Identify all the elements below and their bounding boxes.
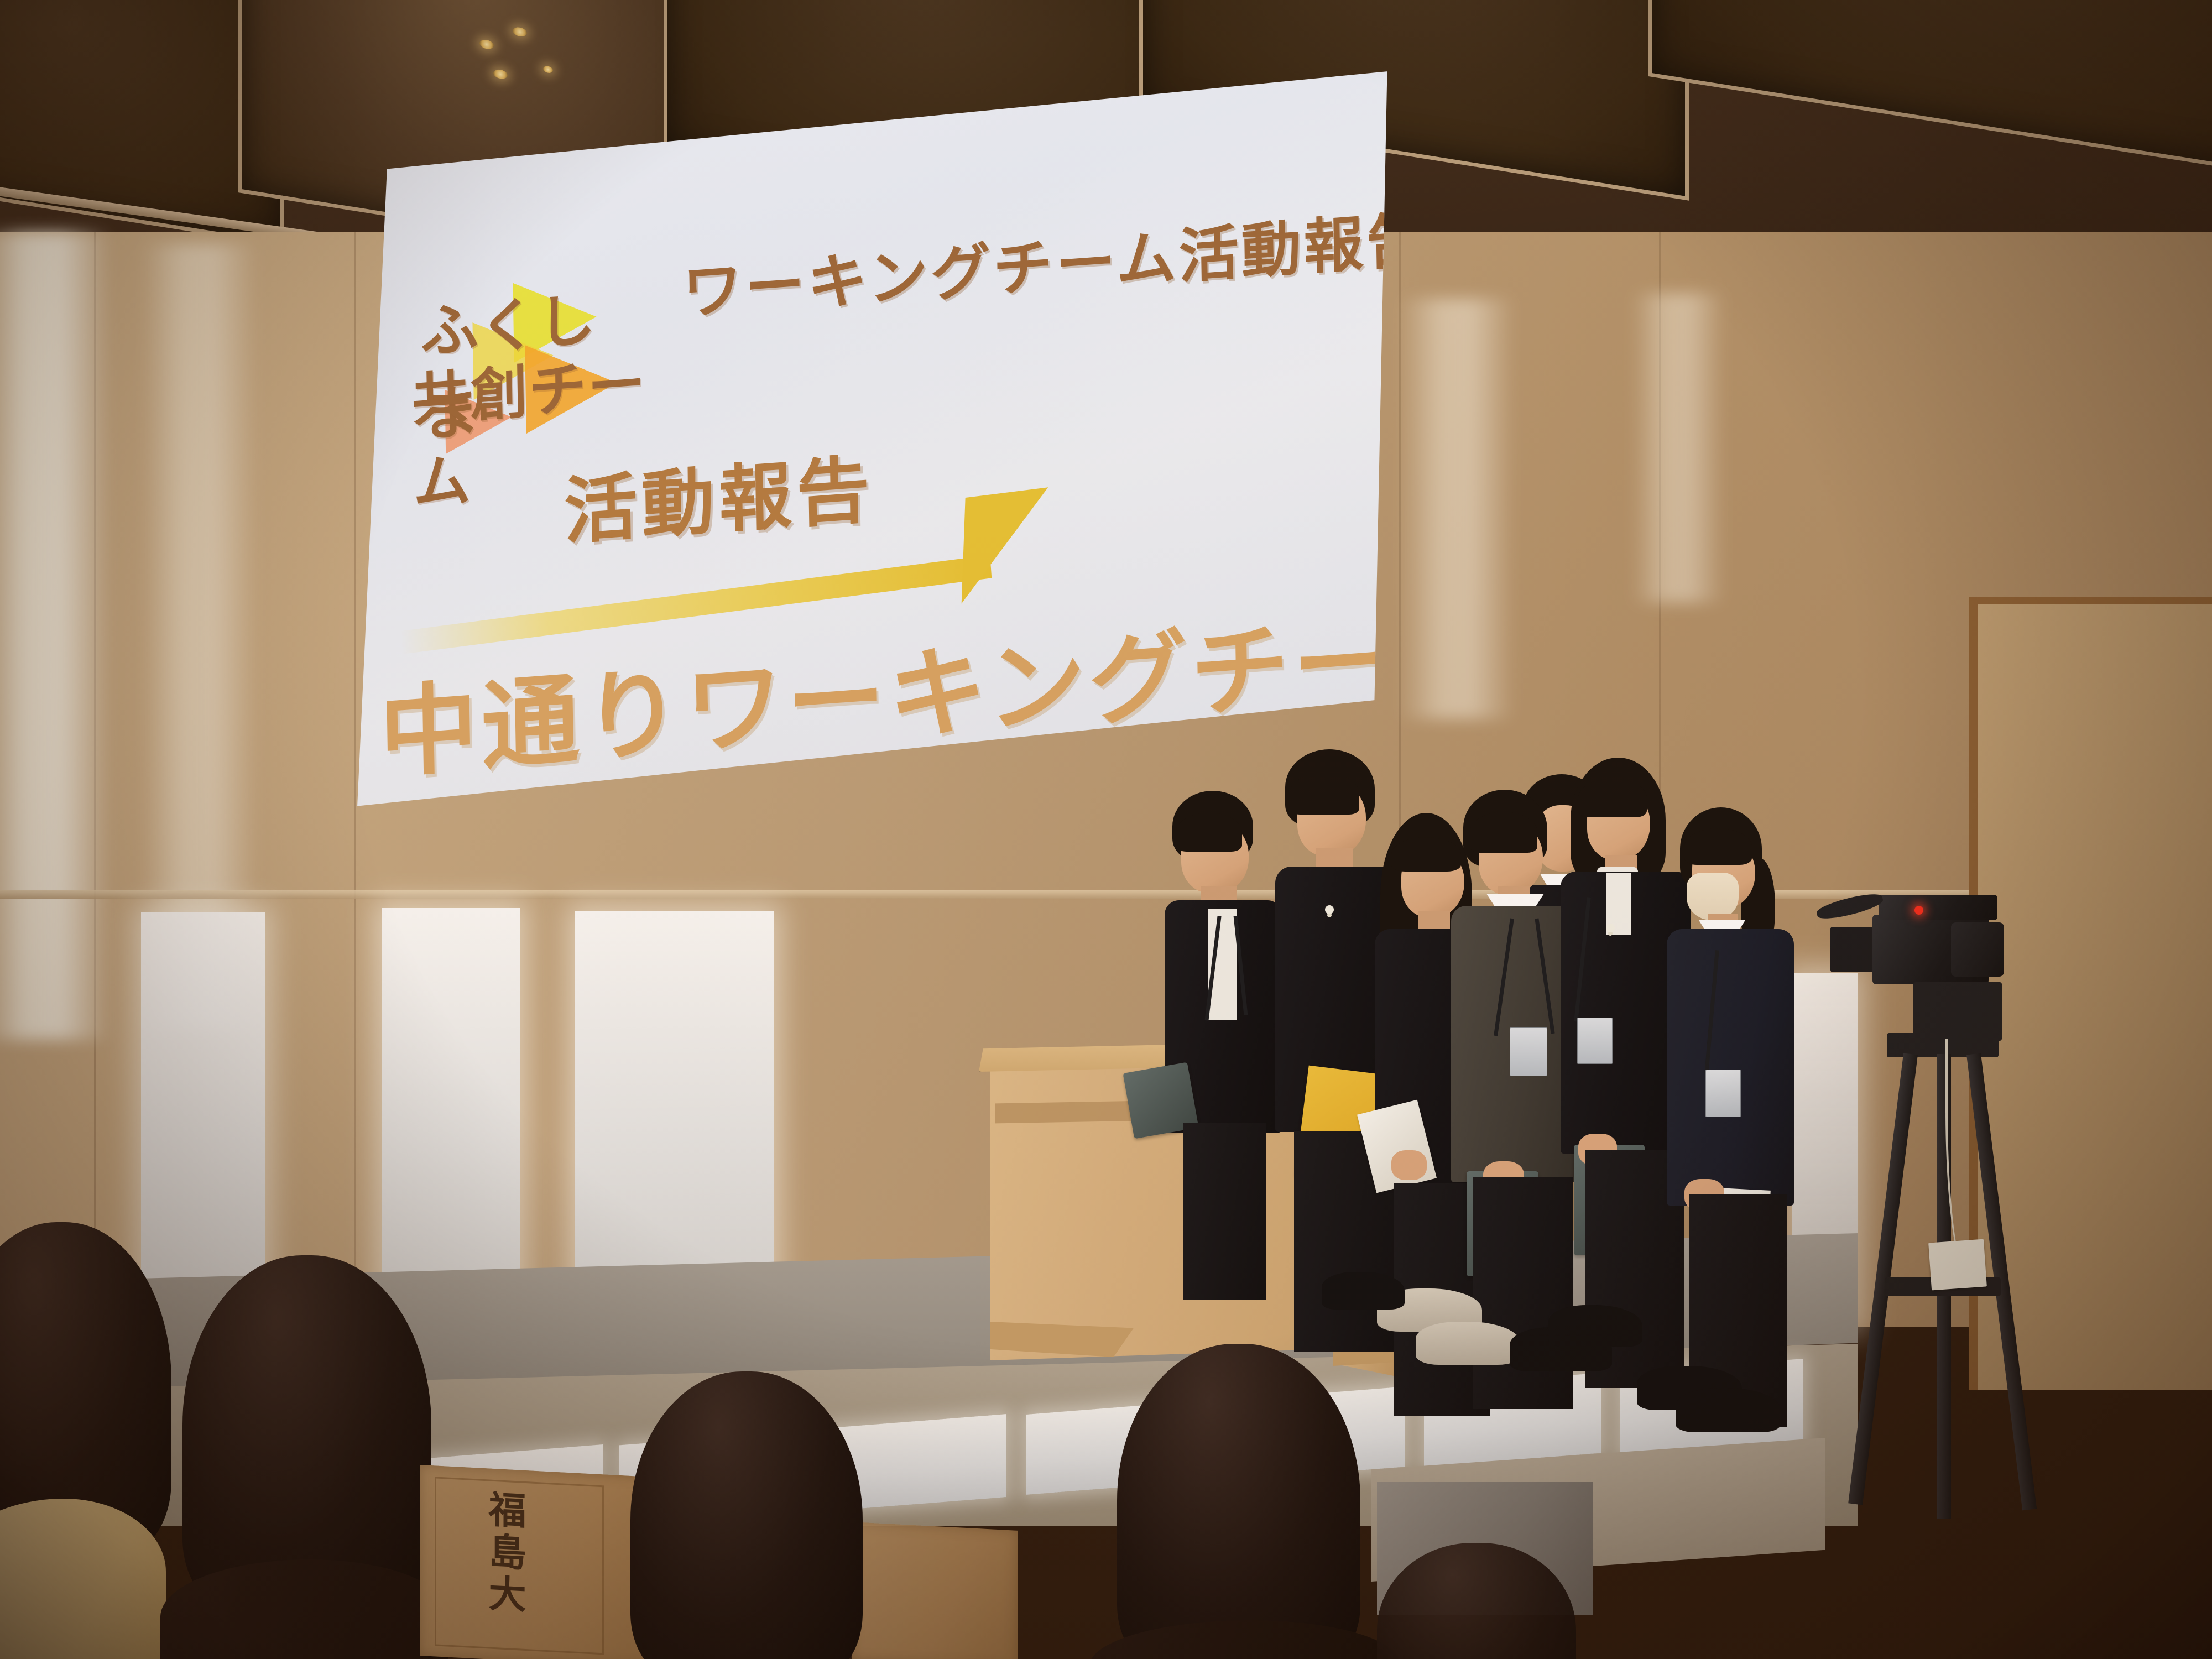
chair-sign-text: 福島大: [477, 1489, 531, 1618]
sneaker-shoe: [1416, 1322, 1521, 1365]
id-badge: [1705, 1070, 1741, 1117]
arrow-head-icon: [962, 487, 1048, 603]
audience-chair: [852, 1522, 1018, 1659]
hair-fringe: [1470, 812, 1537, 853]
ceiling-light-icon: [479, 39, 494, 50]
legs: [1473, 1177, 1573, 1409]
slide-section-title: 活動報告: [563, 431, 874, 559]
ceiling-light-icon: [513, 27, 527, 38]
slide-header: ワーキングチーム活動報告会: [682, 186, 1492, 332]
dress-shoe: [1676, 1388, 1781, 1432]
id-badge: [1577, 1018, 1613, 1064]
wall-glass-panel: [382, 908, 520, 1323]
fukushima-kyoso-team-logo: ふくしま 共創チーム: [410, 264, 650, 447]
hair-fringe: [1391, 837, 1461, 872]
tripod-head: [1913, 982, 2002, 1041]
camera-handle: [1879, 895, 1997, 920]
hair-fringe: [1290, 773, 1359, 815]
audience-head: [1117, 1344, 1360, 1659]
audience-head: [630, 1371, 863, 1659]
wall-glass-panel: [141, 912, 265, 1322]
wall-light-wash: [141, 243, 257, 1029]
ceiling-coffer: [1648, 0, 2212, 182]
ribbon-badge: [1325, 905, 1334, 914]
id-badge: [1510, 1027, 1547, 1076]
ribbon-badge: [1606, 924, 1615, 932]
wall-light-wash: [1631, 293, 1725, 603]
audience-chair: 福島大: [420, 1465, 653, 1659]
hair-fringe: [1176, 813, 1242, 852]
dress-shoe: [1322, 1272, 1405, 1310]
projection-screen: ふくしま 共創チーム ワーキングチーム活動報告会 活動報告 中通りワーキングチー…: [332, 66, 1394, 907]
record-indicator-light: [1914, 906, 1923, 915]
stage-photograph: ふくしま 共創チーム ワーキングチーム活動報告会 活動報告 中通りワーキングチー…: [0, 0, 2212, 1659]
wall-glass-panel: [575, 911, 774, 1323]
hair-fringe: [1578, 779, 1647, 817]
screen-surface: ふくしま 共創チーム ワーキングチーム活動報告会 活動報告 中通りワーキングチー…: [332, 66, 1394, 907]
suit-jacket: [1667, 929, 1794, 1206]
wall-light-wash: [0, 232, 111, 1040]
hair-fringe: [1684, 828, 1752, 865]
audience-head: [182, 1255, 431, 1609]
camera-tag-paper: [1928, 1239, 1987, 1291]
hand: [1391, 1150, 1427, 1180]
dress-shoe: [1548, 1305, 1642, 1347]
legs: [1183, 1123, 1266, 1300]
camera-lens: [1951, 922, 2004, 977]
wall-light-wash: [1399, 299, 1515, 719]
